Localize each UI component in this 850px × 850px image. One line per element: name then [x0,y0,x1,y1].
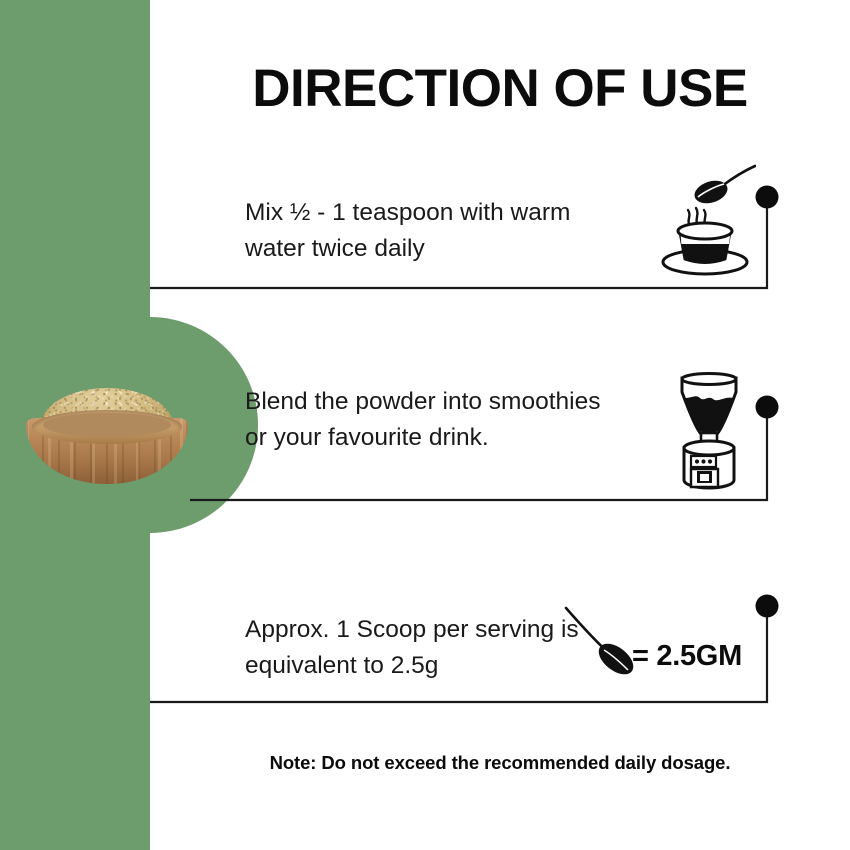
step-2-bullet-dot [756,396,779,419]
scoop-spoon-icon [560,602,638,681]
step-1-text: Mix ½ - 1 teaspoon with warm water twice… [245,195,585,267]
cup-with-spoon-icon [660,152,756,281]
step-1-bullet-dot [756,186,779,209]
step-3-bullet-dot [756,595,779,618]
blender-grinder-icon [666,372,752,495]
page-title: DIRECTION OF USE [150,60,850,118]
bowl-inner-shadow [43,413,171,437]
powder-bowl-image [26,388,188,484]
scoop-equivalence-label: = 2.5GM [632,640,742,673]
dosage-note: Note: Do not exceed the recommended dail… [150,752,850,774]
infographic-canvas: DIRECTION OF USE Mix ½ - 1 teaspoon with… [0,0,850,850]
step-2-text: Blend the powder into smoothies or your … [245,384,605,456]
step-3-text: Approx. 1 Scoop per serving is equivalen… [245,612,605,684]
